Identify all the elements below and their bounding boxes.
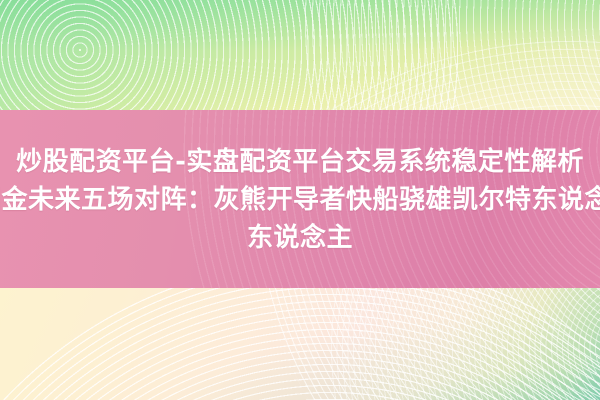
- headline-line-1: 炒股配资平台-实盘配资平台交易系统稳定性解析: [16, 143, 584, 181]
- decorative-title-banner: 炒股配资平台-实盘配资平台交易系统稳定性解析 掘金未来五场对阵：灰熊开导者快船骁…: [0, 0, 600, 400]
- headline-line-2: 掘金未来五场对阵：灰熊开导者快船骁雄凯尔特东说念: [0, 181, 600, 219]
- bottom-gradient-tint: [0, 288, 600, 400]
- headline-text-block: 炒股配资平台-实盘配资平台交易系统稳定性解析 掘金未来五场对阵：灰熊开导者快船骁…: [0, 110, 600, 290]
- headline-line-3: 东说念主: [247, 219, 353, 257]
- top-gradient-tint: [0, 0, 600, 112]
- bottom-gradient-panel: [0, 288, 600, 400]
- top-gradient-panel: [0, 0, 600, 112]
